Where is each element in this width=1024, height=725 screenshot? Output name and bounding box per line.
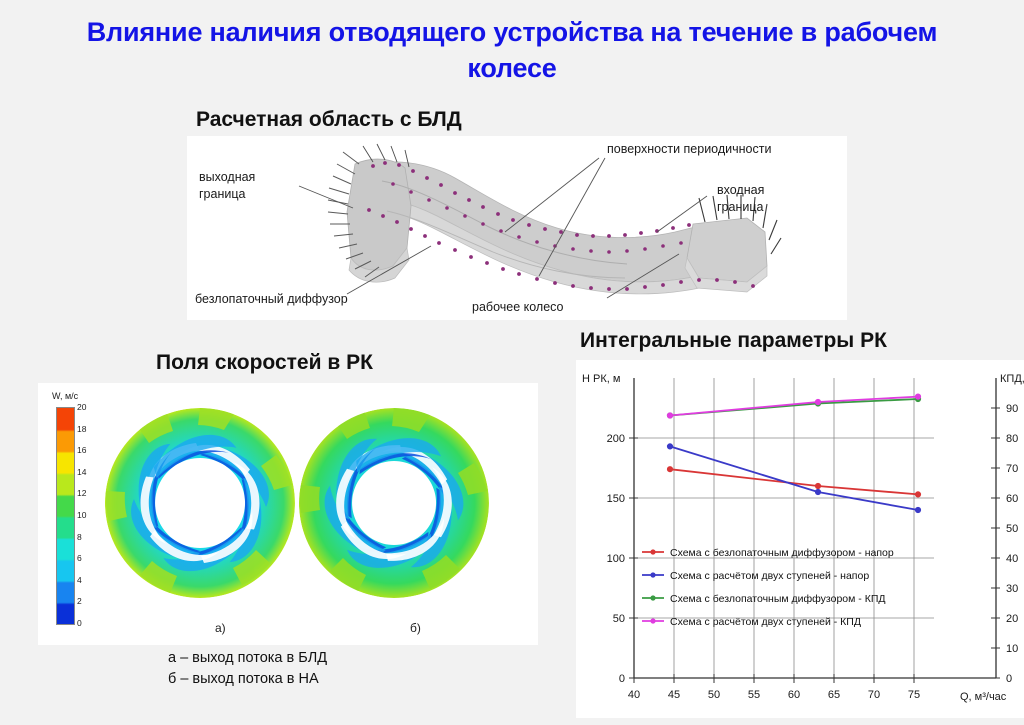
x-tick-label: 75 [908,689,920,701]
impeller-velocity-field-b [294,403,494,618]
legend-label-1[interactable]: Схема с расчётом двух ступеней - напор [670,570,869,582]
page-title: Влияние наличия отводящего устройства на… [40,14,984,87]
subfigure-label-b: б) [410,621,421,635]
series-point-0-0[interactable] [667,467,672,472]
colorbar-tick: 12 [77,488,86,498]
y-tick-label-right: 50 [1006,523,1018,535]
y-tick-label-right: 90 [1006,403,1018,415]
velocity-colorbar [56,407,75,625]
legend-marker-1 [650,572,655,577]
series-point-1-1[interactable] [815,489,820,494]
legend-label-0[interactable]: Схема с безлопаточным диффузором - напор [670,547,894,559]
series-point-0-2[interactable] [915,492,920,497]
colorbar-tick: 18 [77,424,86,434]
x-tick-label: 70 [868,689,880,701]
legend-marker-3 [650,618,655,623]
y-tick-label-right: 20 [1006,613,1018,625]
impeller-velocity-field-a [100,403,300,618]
series-point-3-2[interactable] [915,394,920,399]
label-outlet-boundary: выходная граница [199,169,255,203]
heading-velocity-fields: Поля скоростей в РК [156,351,373,375]
y-tick-label-left: 0 [619,673,625,685]
colorbar-tick: 20 [77,402,86,412]
x-tick-label: 55 [748,689,760,701]
colorbar-tick: 0 [77,618,82,628]
y-tick-label-right: 80 [1006,433,1018,445]
y-tick-label-right: 10 [1006,643,1018,655]
y-tick-label-right: 30 [1006,583,1018,595]
colorbar-tick: 14 [77,467,86,477]
y-tick-label-left: 200 [607,433,625,445]
x-tick-label: 65 [828,689,840,701]
legend-marker-0 [650,549,655,554]
colorbar-tick: 4 [77,575,82,585]
series-point-3-0[interactable] [667,413,672,418]
label-vaneless-diffuser: безлопаточный диффузор [195,291,348,308]
colorbar-tick-labels: 20181614121086420 [77,401,99,629]
series-point-1-0[interactable] [667,444,672,449]
legend-label-3[interactable]: Схема с расчётом двух ступеней - КПД [670,616,861,628]
label-inlet-boundary: входная граница [717,182,764,216]
legend-label-2[interactable]: Схема с безлопаточным диффузором - КПД [670,593,885,605]
y-tick-label-left: 100 [607,553,625,565]
integral-parameters-chart: 0501001502000102030405060708090404550556… [576,360,1024,718]
label-periodic-surfaces: поверхности периодичности [607,141,771,158]
legend-marker-2 [650,595,655,600]
x-tick-label: 40 [628,689,640,701]
colorbar-tick: 8 [77,532,82,542]
colorbar-tick: 16 [77,445,86,455]
computational-domain-figure: выходная граница поверхности периодичнос… [187,136,847,320]
y-tick-label-right: 70 [1006,463,1018,475]
integral-parameters-plot: 0501001502000102030405060708090404550556… [576,360,1024,718]
x-axis-label: Q, м³/час [960,691,1007,703]
y-tick-label-left: 150 [607,493,625,505]
y-tick-label-left: 50 [613,613,625,625]
y-tick-label-right: 60 [1006,493,1018,505]
y-axis-label-left: H РК, м [582,373,620,385]
heading-integral-parameters: Интегральные параметры РК [580,329,887,353]
colorbar-title: W, м/с [52,391,78,401]
x-tick-label: 45 [668,689,680,701]
y-tick-label-right: 0 [1006,673,1012,685]
heading-computational-domain: Расчетная область с БЛД [196,108,462,132]
series-point-0-1[interactable] [815,483,820,488]
colorbar-tick: 2 [77,596,82,606]
x-tick-label: 50 [708,689,720,701]
series-point-3-1[interactable] [815,399,820,404]
y-axis-label-right: КПД, % [1000,373,1024,385]
label-impeller: рабочее колесо [472,299,564,316]
series-point-1-2[interactable] [915,507,920,512]
x-tick-label: 60 [788,689,800,701]
velocity-fields-caption: а – выход потока в БЛД б – выход потока … [168,648,327,690]
velocity-fields-figure: W, м/с 20181614121086420 [38,383,538,645]
colorbar-tick: 6 [77,553,82,563]
subfigure-label-a: a) [215,621,226,635]
y-tick-label-right: 40 [1006,553,1018,565]
slide-root: Влияние наличия отводящего устройства на… [0,0,1024,725]
colorbar-tick: 10 [77,510,86,520]
